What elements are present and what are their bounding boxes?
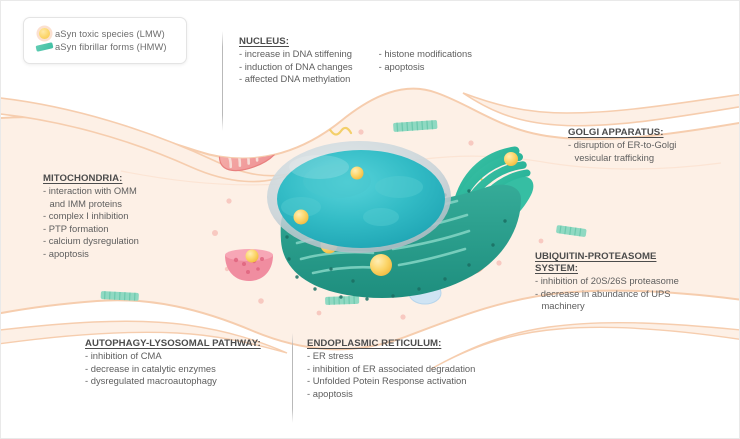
block-mitochondria-title: MITOCHONDRIA: <box>43 173 139 184</box>
divider-nucleus-left <box>222 31 223 131</box>
aggregate-dot-icon <box>370 254 392 276</box>
divider-er-left <box>292 333 293 423</box>
aggregate-dot-icon <box>33 28 55 39</box>
legend-panel: aSyn toxic species (LMW) aSyn fibrillar … <box>23 17 187 64</box>
aggregate-dot-icon <box>504 152 518 166</box>
block-mitochondria: MITOCHONDRIA: - interaction with OMM and… <box>43 173 139 261</box>
block-nucleus-column-right: - histone modifications - apoptosis <box>379 48 472 86</box>
list-item: - induction of DNA changes <box>239 61 353 74</box>
list-item: - calcium dysregulation <box>43 235 139 248</box>
list-item: vesicular trafficking <box>568 152 676 165</box>
list-item: machinery <box>535 300 679 313</box>
list-item: - PTP formation <box>43 223 139 236</box>
list-item: - histone modifications <box>379 48 472 61</box>
list-item: - increase in DNA stiffening <box>239 48 353 61</box>
list-item: - apoptosis <box>307 388 475 401</box>
legend-item-hmw: aSyn fibrillar forms (HMW) <box>33 42 177 52</box>
list-item: - inhibition of 20S/26S proteasome <box>535 275 679 288</box>
aggregate-dot-icon <box>246 250 259 263</box>
block-golgi-title: GOLGI APPARATUS: <box>568 127 676 138</box>
list-item: - decrease in abundance of UPS <box>535 288 679 301</box>
list-item: - disruption of ER-to-Golgi <box>568 139 676 152</box>
legend-item-lmw: aSyn toxic species (LMW) <box>33 28 177 39</box>
legend-label-lmw: aSyn toxic species (LMW) <box>55 29 165 39</box>
block-endoplasmic-reticulum: ENDOPLASMIC RETICULUM: - ER stress - inh… <box>307 338 475 400</box>
list-item: - complex I inhibition <box>43 210 139 223</box>
nucleus <box>267 141 451 253</box>
fibril-bar-icon <box>33 44 55 50</box>
block-nucleus-title: NUCLEUS: <box>239 36 472 47</box>
list-item: - affected DNA methylation <box>239 73 353 86</box>
list-item: - Unfolded Potein Response activation <box>307 375 475 388</box>
list-item: - decrease in catalytic enzymes <box>85 363 261 376</box>
block-autophagy: AUTOPHAGY-LYSOSOMAL PATHWAY: - inhibitio… <box>85 338 261 388</box>
block-ups-title-line1: UBIQUITIN-PROTEASOME <box>535 251 679 262</box>
figure-canvas: aSyn toxic species (LMW) aSyn fibrillar … <box>0 0 740 439</box>
aggregate-dot-icon <box>351 167 364 180</box>
legend-label-hmw: aSyn fibrillar forms (HMW) <box>55 42 167 52</box>
list-item: - interaction with OMM <box>43 185 139 198</box>
list-item: - apoptosis <box>43 248 139 261</box>
list-item: and IMM proteins <box>43 198 139 211</box>
list-item: - inhibition of CMA <box>85 350 261 363</box>
block-ups-title-line2: SYSTEM: <box>535 263 679 274</box>
block-autophagy-title: AUTOPHAGY-LYSOSOMAL PATHWAY: <box>85 338 261 349</box>
list-item: - ER stress <box>307 350 475 363</box>
list-item: - dysregulated macroautophagy <box>85 375 261 388</box>
aggregate-dot-icon <box>294 210 309 225</box>
block-nucleus: NUCLEUS: - increase in DNA stiffening - … <box>239 36 472 86</box>
list-item: - apoptosis <box>379 61 472 74</box>
block-nucleus-column-left: - increase in DNA stiffening - induction… <box>239 48 353 86</box>
block-ubiquitin-proteasome: UBIQUITIN-PROTEASOME SYSTEM: - inhibitio… <box>535 251 679 313</box>
block-golgi: GOLGI APPARATUS: - disruption of ER-to-G… <box>568 127 676 164</box>
block-er-title: ENDOPLASMIC RETICULUM: <box>307 338 475 349</box>
list-item: - inhibition of ER associated degradatio… <box>307 363 475 376</box>
